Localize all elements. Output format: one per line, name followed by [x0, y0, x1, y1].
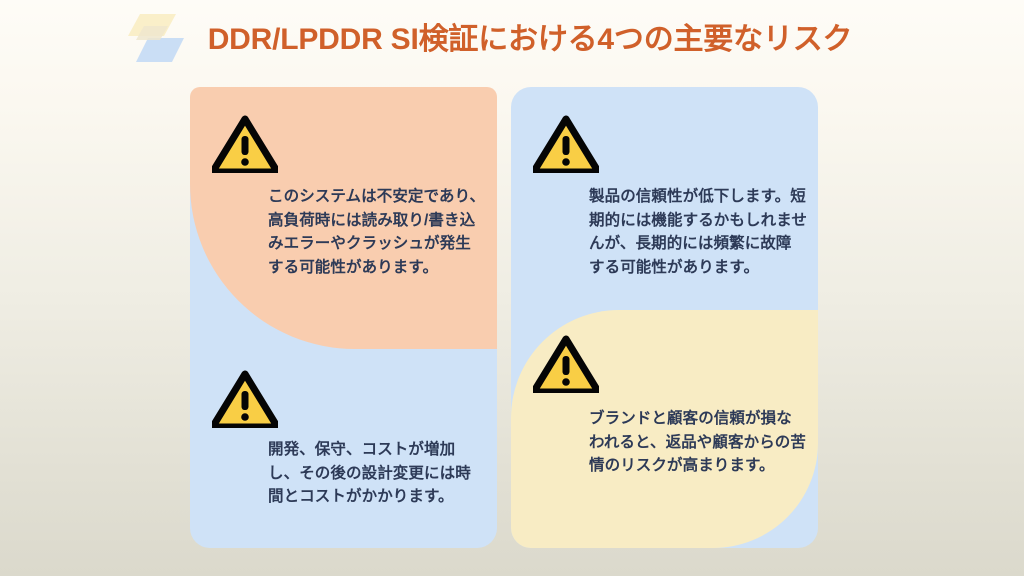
risk-item-2: 製品の信頼性が低下します。短期的には機能するかもしれませんが、長期的には頻繁に故…: [511, 87, 818, 279]
warning-triangle-icon: [212, 115, 278, 173]
risk-text-1: このシステムは不安定であり、高負荷時には読み取り/書き込みエラーやクラッシュが発…: [268, 185, 486, 279]
brand-logo-icon: [122, 10, 188, 66]
risk-text-2: 製品の信頼性が低下します。短期的には機能するかもしれませんが、長期的には頻繁に故…: [589, 185, 807, 279]
left-column: このシステムは不安定であり、高負荷時には読み取り/書き込みエラーやクラッシュが発…: [190, 87, 497, 548]
risk-item-3: 開発、保守、コストが増加し、その後の設計変更には時間とコストがかかります。: [190, 342, 497, 509]
page-title: DDR/LPDDR SI検証における4つの主要なリスク: [208, 14, 853, 58]
risk-text-4: ブランドと顧客の信頼が損なわれると、返品や顧客からの苦情のリスクが高まります。: [589, 407, 807, 478]
warning-triangle-icon: [533, 335, 599, 393]
risk-item-4: ブランドと顧客の信頼が損なわれると、返品や顧客からの苦情のリスクが高まります。: [511, 311, 818, 478]
right-column: 製品の信頼性が低下します。短期的には機能するかもしれませんが、長期的には頻繁に故…: [511, 87, 818, 548]
page-header: DDR/LPDDR SI検証における4つの主要なリスク: [0, 0, 1024, 72]
warning-triangle-icon: [212, 370, 278, 428]
risk-item-1: このシステムは不安定であり、高負荷時には読み取り/書き込みエラーやクラッシュが発…: [190, 87, 497, 279]
warning-triangle-icon: [533, 115, 599, 173]
risk-text-3: 開発、保守、コストが増加し、その後の設計変更には時間とコストがかかります。: [268, 438, 486, 509]
